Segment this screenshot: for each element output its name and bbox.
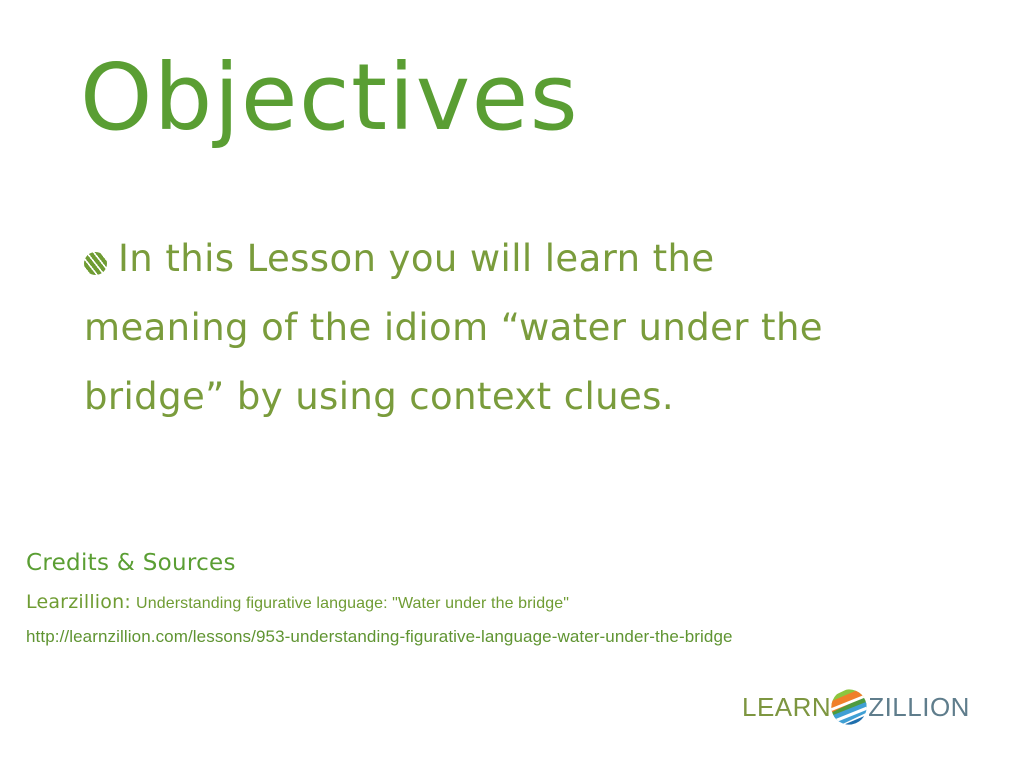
learnzillion-logo[interactable]: LEARN ZILLION (742, 687, 970, 727)
page-title: Objectives (80, 46, 579, 149)
logo-word-learn: LEARN (742, 694, 831, 720)
credits-heading: Credits & Sources (26, 550, 986, 578)
striped-circle-bullet-icon (84, 252, 107, 275)
credits-source-description: Understanding figurative language: "Wate… (136, 595, 569, 612)
objective-line-2: meaning of the idiom “water under the (84, 293, 914, 362)
credits-source-line: Learzillion: Understanding figurative la… (26, 591, 986, 615)
slide-canvas: Objectives In this Lesson you will learn… (0, 0, 1024, 768)
objectives-body: In this Lesson you will learn the meanin… (84, 224, 914, 431)
logo-word-zillion: ZILLION (868, 694, 970, 720)
list-item: In this Lesson you will learn the (84, 224, 914, 293)
credits-source-url[interactable]: http://learnzillion.com/lessons/953-unde… (26, 626, 986, 647)
credits-source-name: Learzillion: (26, 591, 131, 613)
objective-line-1: In this Lesson you will learn the (118, 237, 715, 280)
learnzillion-globe-mark-icon (828, 686, 870, 728)
objective-line-3: bridge” by using context clues. (84, 362, 914, 431)
credits-section: Credits & Sources Learzillion: Understan… (26, 550, 986, 648)
